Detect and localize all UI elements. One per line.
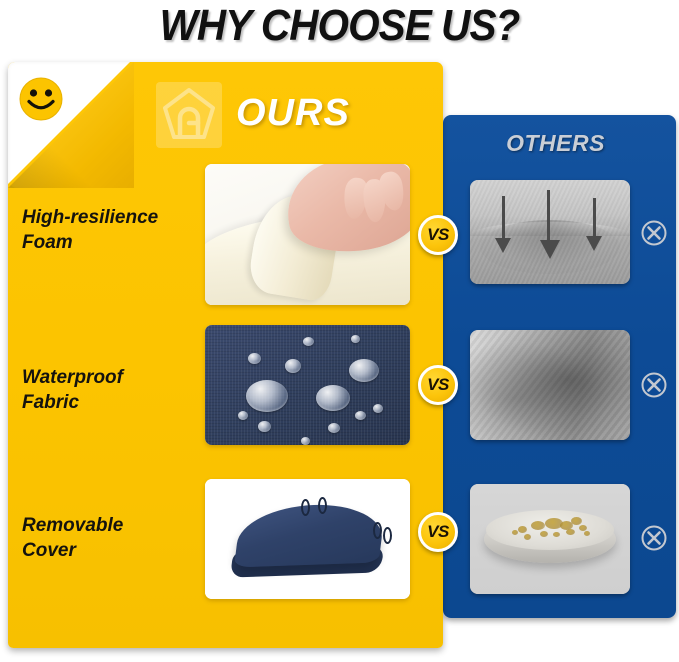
circled-x-icon-2 — [640, 524, 668, 552]
others-image-2 — [470, 484, 630, 594]
feature-label-2: Removable Cover — [22, 513, 197, 563]
vs-badge-1: VS — [418, 365, 458, 405]
ours-image-1 — [205, 325, 410, 445]
ours-panel-label: OURS — [236, 92, 350, 135]
feature-label-1: Waterproof Fabric — [22, 365, 197, 415]
feature-label-0: High-resilience Foam — [22, 205, 197, 255]
vs-badge-2: VS — [418, 512, 458, 552]
others-panel-label: OTHERS — [443, 130, 668, 157]
ours-image-2 — [205, 479, 410, 599]
others-image-0 — [470, 180, 630, 284]
smiley-face-icon — [18, 76, 64, 122]
ours-image-0 — [205, 164, 410, 305]
pentagon-house-icon — [156, 82, 222, 148]
circled-x-icon-1 — [640, 371, 668, 399]
others-image-1 — [470, 330, 630, 440]
infographic-canvas: WHY CHOOSE US? OTHERS OURS High-resilien… — [0, 0, 679, 662]
vs-badge-0: VS — [418, 215, 458, 255]
circled-x-icon-0 — [640, 219, 668, 247]
page-title: WHY CHOOSE US? — [27, 0, 652, 54]
